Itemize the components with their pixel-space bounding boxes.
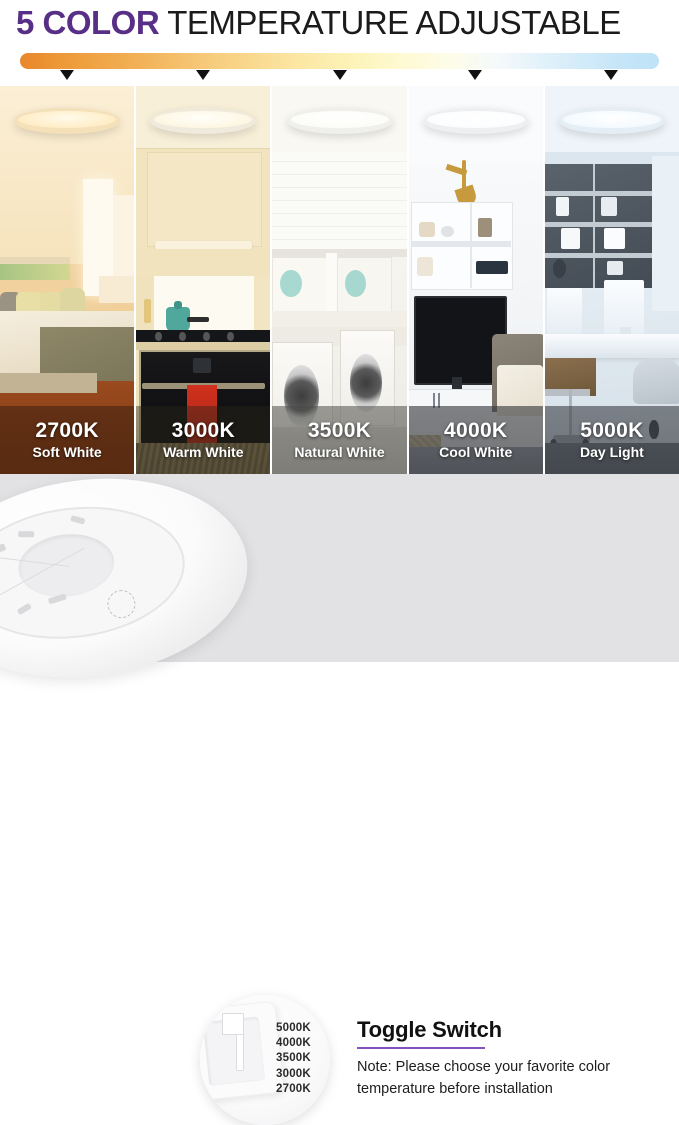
color-temperature-scale — [0, 47, 679, 85]
ceiling-light-fixture — [287, 108, 393, 134]
scene-panel-strip: 2700K Soft White — [0, 86, 679, 474]
scene-panel-5000k[interactable]: 5000K Day Light — [545, 86, 679, 474]
scene-panel-2700k[interactable]: 2700K Soft White — [0, 86, 136, 474]
down-triangle-marker — [468, 70, 482, 80]
switch-label-3500k: 3500K — [276, 1051, 311, 1066]
product-infographic: 5 COLOR TEMPERATURE ADJUSTABLE — [0, 0, 679, 662]
light-fixture-backplate — [0, 461, 259, 695]
switch-label-5000k: 5000K — [276, 1021, 311, 1036]
kelvin-name: Cool White — [439, 445, 512, 460]
kelvin-name: Soft White — [32, 445, 101, 460]
page-title: 5 COLOR TEMPERATURE ADJUSTABLE — [0, 4, 621, 42]
down-triangle-marker — [604, 70, 618, 80]
panel-caption: 2700K Soft White — [0, 406, 134, 474]
kelvin-value: 4000K — [444, 420, 507, 442]
toggle-switch-note: Note: Please choose your favorite color … — [357, 1056, 669, 1100]
header: 5 COLOR TEMPERATURE ADJUSTABLE — [0, 0, 679, 45]
scene-panel-3500k[interactable]: 3500K Natural White — [272, 86, 408, 474]
ceiling-light-fixture — [150, 108, 256, 134]
switch-position-labels: 5000K 4000K 3500K 3000K 2700K — [276, 1021, 311, 1097]
panel-caption: 4000K Cool White — [409, 406, 543, 474]
switch-label-2700k: 2700K — [276, 1082, 311, 1097]
panel-caption: 5000K Day Light — [545, 406, 679, 474]
down-triangle-marker — [196, 70, 210, 80]
kelvin-value: 5000K — [580, 420, 643, 442]
kelvin-value: 3000K — [172, 420, 235, 442]
toggle-switch-section: 5000K 4000K 3500K 3000K 2700K Toggle Swi… — [0, 474, 679, 662]
ceiling-light-fixture — [14, 108, 120, 134]
kelvin-name: Natural White — [294, 445, 384, 460]
heading-underline — [357, 1047, 485, 1049]
scene-panel-4000k[interactable]: 4000K Cool White — [409, 86, 545, 474]
panel-caption: 3500K Natural White — [272, 406, 406, 474]
kelvin-name: Warm White — [163, 445, 243, 460]
down-triangle-marker — [333, 70, 347, 80]
title-rest: TEMPERATURE ADJUSTABLE — [159, 4, 621, 41]
scene-panel-3000k[interactable]: 3000K Warm White — [136, 86, 272, 474]
toggle-switch-text-block: Toggle Switch Note: Please choose your f… — [357, 1017, 669, 1100]
kelvin-value: 3500K — [308, 420, 371, 442]
panel-caption: 3000K Warm White — [136, 406, 270, 474]
switch-label-3000k: 3000K — [276, 1067, 311, 1082]
toggle-switch-heading: Toggle Switch — [357, 1017, 669, 1043]
title-accent: 5 COLOR — [16, 4, 159, 41]
gradient-bar — [20, 53, 659, 69]
ceiling-light-fixture — [559, 108, 665, 134]
toggle-switch-magnifier: 5000K 4000K 3500K 3000K 2700K — [200, 995, 330, 1125]
kelvin-value: 2700K — [35, 420, 98, 442]
down-triangle-marker — [60, 70, 74, 80]
switch-label-4000k: 4000K — [276, 1036, 311, 1051]
toggle-switch-lever-head[interactable] — [222, 1013, 243, 1035]
kelvin-name: Day Light — [580, 445, 644, 460]
ceiling-light-fixture — [423, 108, 529, 134]
